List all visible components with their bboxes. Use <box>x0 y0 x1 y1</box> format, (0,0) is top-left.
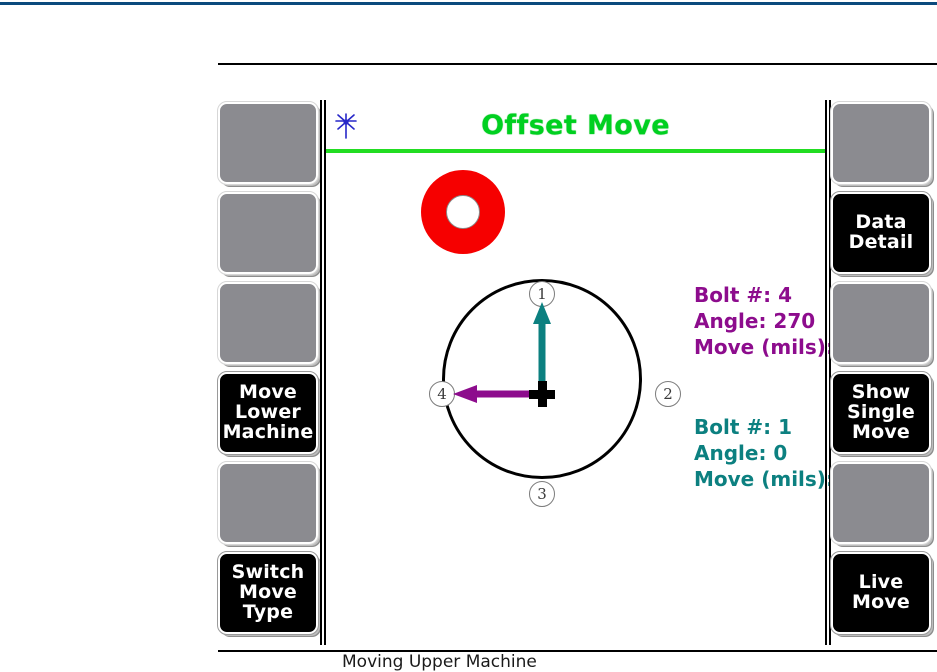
bottom-divider-rule <box>218 650 937 652</box>
left-softkey-3[interactable] <box>218 282 318 364</box>
right-softkey-6-label: Live Move <box>833 573 929 613</box>
center-display: Offset Move 1 2 3 4 <box>324 100 827 645</box>
left-softkey-4-label: Move Lower Machine <box>220 383 316 442</box>
bolt-marker-4[interactable]: 4 <box>429 381 455 407</box>
move-vector-left-arrow-icon <box>453 385 537 403</box>
right-softkey-column: Data Detail Show Single Move Live Move <box>831 100 934 645</box>
left-softkey-switch-move-type[interactable]: Switch Move Type <box>218 552 318 634</box>
right-softkey-2-label: Data Detail <box>833 213 929 253</box>
left-softkey-5[interactable] <box>218 462 318 544</box>
left-softkey-column: Move Lower Machine Switch Move Type <box>218 100 321 645</box>
right-softkey-show-single-move[interactable]: Show Single Move <box>831 372 931 454</box>
bolt-marker-3[interactable]: 3 <box>529 481 555 507</box>
coupling-bore-icon <box>446 195 480 229</box>
left-softkey-move-lower-machine[interactable]: Move Lower Machine <box>218 372 318 454</box>
machine-graphic: 1 2 3 4 Bolt #: 4 Angle: 270 <box>326 152 825 592</box>
right-softkey-1[interactable] <box>831 102 931 184</box>
right-softkey-5[interactable] <box>831 462 931 544</box>
right-softkey-data-detail[interactable]: Data Detail <box>831 192 931 274</box>
instrument-panel: Move Lower Machine Switch Move Type <box>218 100 937 645</box>
page-title: Offset Move <box>326 110 825 141</box>
right-softkey-live-move[interactable]: Live Move <box>831 552 931 634</box>
right-softkey-4-label: Show Single Move <box>833 383 929 442</box>
top-accent-bar <box>0 2 937 5</box>
left-softkey-6-label: Switch Move Type <box>220 563 316 622</box>
top-divider-rule <box>218 63 937 65</box>
move-vector-up-arrow-icon <box>533 302 551 386</box>
right-softkey-3[interactable] <box>831 282 931 364</box>
bolt-marker-2[interactable]: 2 <box>655 381 681 407</box>
status-message: Moving Upper Machine <box>342 652 537 672</box>
left-softkey-1[interactable] <box>218 102 318 184</box>
shaft-center-cross-icon <box>529 381 555 407</box>
title-row: Offset Move <box>326 108 825 146</box>
left-softkey-2[interactable] <box>218 192 318 274</box>
